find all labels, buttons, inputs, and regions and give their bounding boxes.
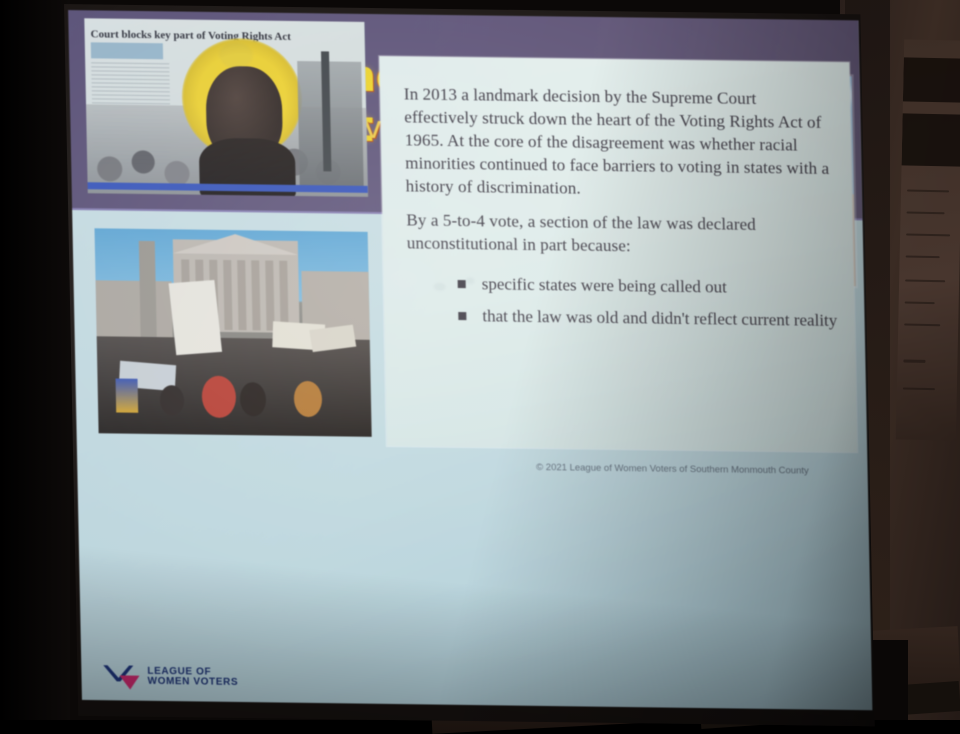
left-dark-wall xyxy=(0,0,70,720)
bullet-item: that the law was old and didn't reflect … xyxy=(456,305,849,331)
paragraph-two: By a 5-to-4 vote, a section of the law w… xyxy=(406,208,831,260)
slide: Eroding the Voting Rights Act Shelby Cou… xyxy=(68,10,872,710)
projection-screen: Eroding the Voting Rights Act Shelby Cou… xyxy=(64,4,875,726)
text-panel: In 2013 a landmark decision by the Supre… xyxy=(379,56,857,452)
logo-line-two: WOMEN VOTERS xyxy=(148,677,239,689)
paragraph-one: In 2013 a landmark decision by the Supre… xyxy=(404,82,831,203)
lwv-logo: LEAGUE OF WOMEN VOTERS xyxy=(103,658,304,697)
lwv-mark-icon xyxy=(103,663,142,689)
bullet-item: specific states were being called out xyxy=(455,273,848,299)
rally-photo xyxy=(95,228,372,437)
news-headline: Court blocks key part of Voting Rights A… xyxy=(90,24,359,40)
whiteboard xyxy=(896,39,960,440)
bullet-list: specific states were being called out th… xyxy=(455,273,848,342)
news-clipping-photo: Court blocks key part of Voting Rights A… xyxy=(84,18,368,197)
